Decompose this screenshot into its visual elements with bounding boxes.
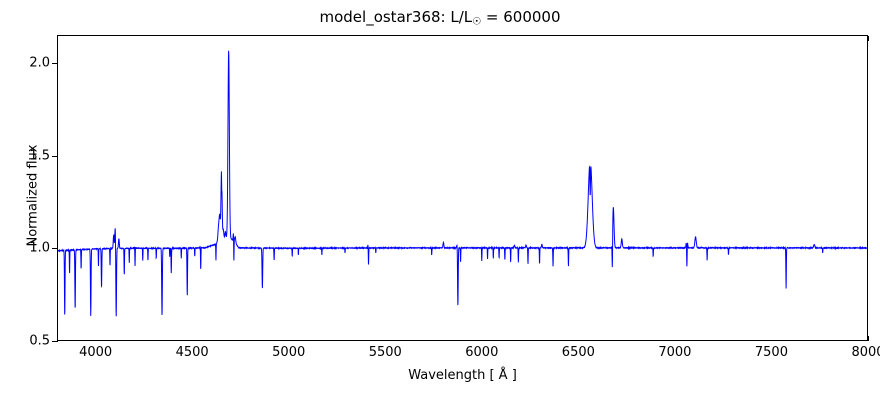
y-tick-label: 0.5: [0, 334, 50, 349]
y-axis-label: Normalized flux: [26, 86, 41, 306]
plot-axes-frame: [57, 35, 868, 341]
x-axis-label: Wavelength [ Å ]: [57, 368, 868, 383]
y-tick-label: 2.0: [0, 55, 50, 70]
plot-title-prefix: model_ostar368: L/L: [319, 8, 472, 26]
x-tick-mark: [868, 336, 869, 341]
x-tick-mark-top: [868, 36, 869, 41]
x-tick-label: 5500: [369, 345, 402, 360]
plot-title-suffix: = 600000: [481, 8, 560, 26]
y-tick-mark: [52, 341, 58, 342]
x-tick-label: 6500: [562, 345, 595, 360]
spectrum-line: [58, 51, 867, 317]
x-tick-label: 4000: [79, 345, 112, 360]
spectrum-figure: model_ostar368: L/L☉ = 600000 0.51.01.52…: [0, 0, 880, 400]
x-tick-label: 4500: [176, 345, 209, 360]
x-tick-label: 6000: [465, 345, 498, 360]
x-tick-label: 7000: [658, 345, 691, 360]
page-title: model_ostar368: L/L☉ = 600000: [0, 8, 880, 28]
spectrum-plot-area: [58, 36, 867, 340]
x-tick-label: 8000: [851, 345, 880, 360]
solar-symbol-subscript: ☉: [472, 17, 481, 28]
x-tick-label: 7500: [755, 345, 788, 360]
x-tick-label: 5000: [272, 345, 305, 360]
